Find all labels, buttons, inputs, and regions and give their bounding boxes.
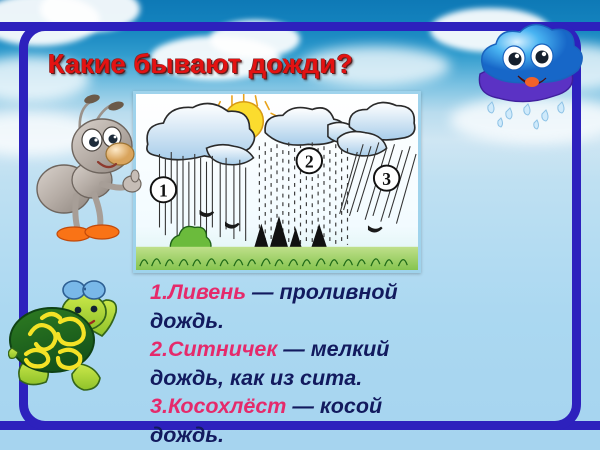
illustration-svg: 1 2 3: [136, 94, 418, 270]
definition-text: дождь.: [150, 423, 224, 447]
definition-dash: —: [277, 337, 310, 361]
definition-term: Ливень: [168, 280, 246, 304]
definition-dash: —: [286, 394, 319, 418]
ant-snout: [106, 143, 134, 165]
definition-dash: —: [246, 280, 279, 304]
svg-text:3: 3: [382, 169, 391, 189]
svg-text:1: 1: [159, 181, 168, 201]
definition-term: 1.: [150, 280, 168, 304]
definition-text: косой: [320, 394, 382, 418]
marker-3: 3: [374, 166, 399, 191]
definition-term: 3.: [150, 394, 168, 418]
definition-line: 2.Ситничек — мелкий: [150, 335, 570, 364]
rain-types-illustration: 1 2 3: [133, 91, 421, 273]
antenna-tip: [107, 100, 125, 112]
definition-text: дождь.: [150, 309, 224, 333]
definition-text: мелкий: [311, 337, 390, 361]
definition-line: дождь, как из сита.: [150, 364, 570, 393]
antenna-tip: [83, 93, 101, 105]
definitions-list: 1.Ливень — проливной дождь. 2.Ситничек —…: [150, 278, 570, 449]
definition-text: дождь, как из сита.: [150, 366, 362, 390]
definition-term: Ситничек: [168, 337, 277, 361]
definition-line: 3.Косохлёст — косой: [150, 392, 570, 421]
definition-term: 2.: [150, 337, 168, 361]
ant-hand: [123, 170, 141, 192]
ant-shoe: [85, 225, 119, 239]
svg-text:2: 2: [305, 152, 314, 172]
definition-line: дождь.: [150, 307, 570, 336]
cloud-tongue: [525, 77, 539, 87]
marker-2: 2: [297, 148, 322, 173]
turtle-character: [8, 276, 136, 406]
ant-character: [36, 84, 148, 252]
definition-line: дождь.: [150, 421, 570, 450]
turtle-eye: [91, 306, 98, 313]
marker-1: 1: [151, 177, 176, 202]
definition-line: 1.Ливень — проливной: [150, 278, 570, 307]
raindrop: [488, 102, 564, 129]
page-title: Какие бывают дожди?: [48, 49, 468, 80]
rain-cloud-character: [470, 22, 594, 130]
definition-text: проливной: [279, 280, 397, 304]
definition-term: Косохлёст: [168, 394, 286, 418]
slide-canvas: Какие бывают дожди?: [0, 0, 600, 450]
